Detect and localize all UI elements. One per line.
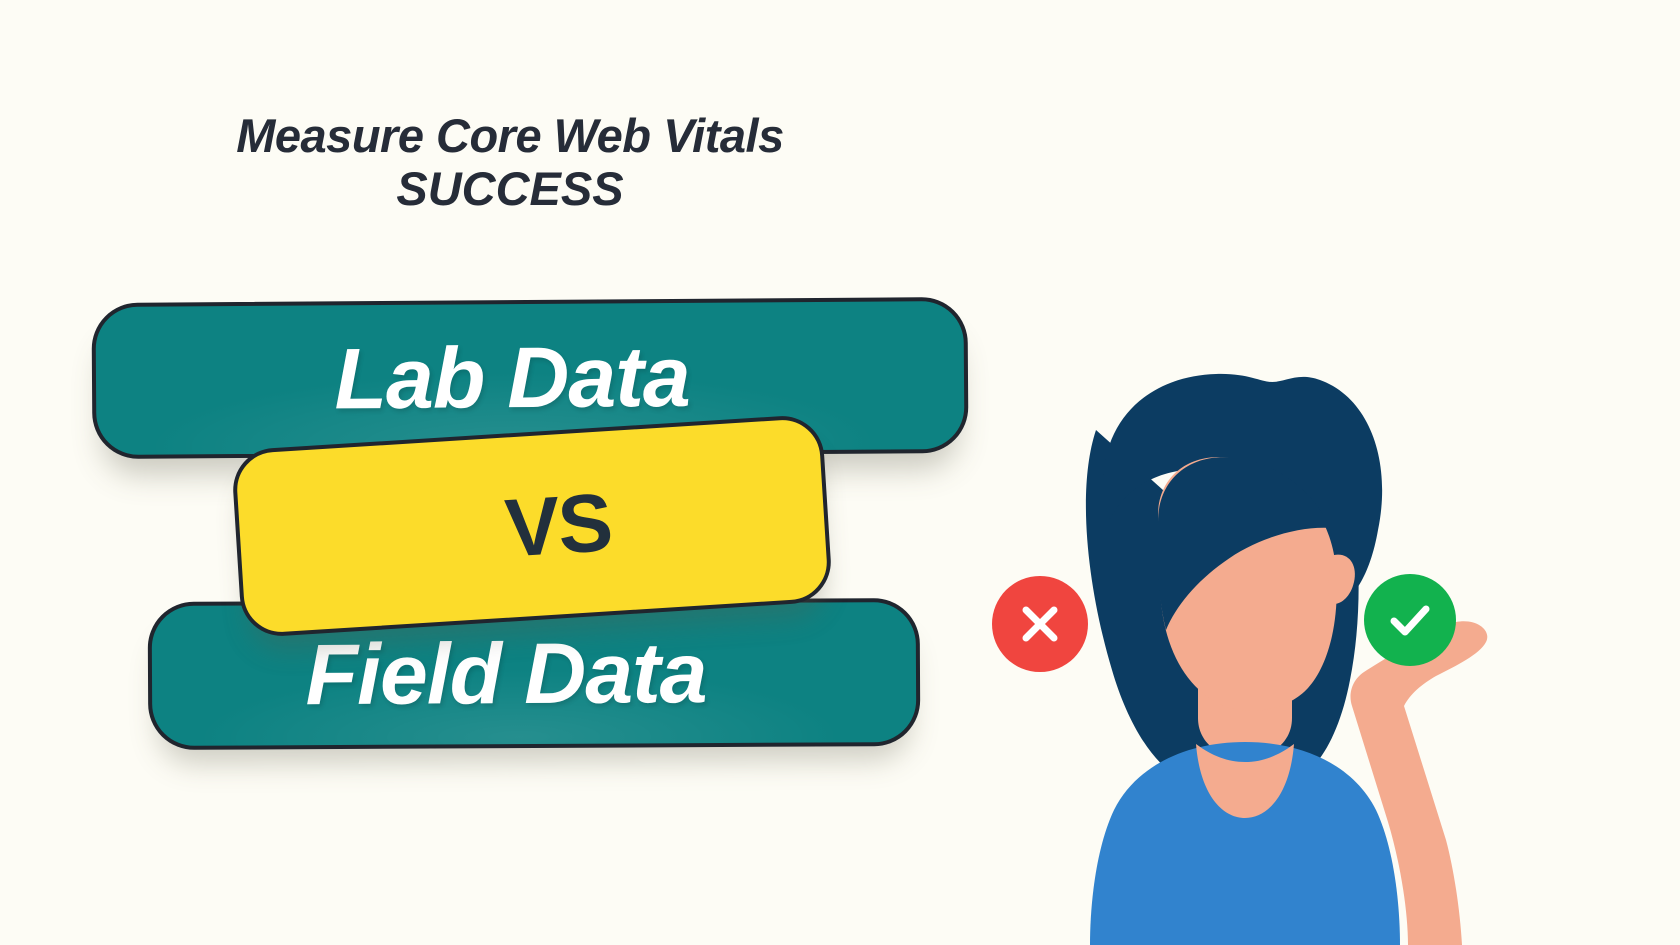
pill-field-data-label: Field Data — [305, 624, 706, 725]
page-title: Measure Core Web Vitals SUCCESS — [110, 112, 910, 212]
pill-lab-data-label: Lab Data — [334, 327, 690, 428]
check-icon — [1383, 593, 1437, 647]
cross-icon — [1014, 598, 1066, 650]
cross-badge — [992, 576, 1088, 672]
check-badge — [1364, 574, 1456, 666]
headline-line-1: Measure Core Web Vitals — [110, 112, 910, 159]
pill-versus-label: VS — [503, 476, 614, 576]
pill-versus: VS — [231, 414, 834, 639]
graphic-canvas: Measure Core Web Vitals SUCCESS Lab Data… — [0, 0, 1680, 945]
headline-line-2: SUCCESS — [110, 165, 910, 212]
